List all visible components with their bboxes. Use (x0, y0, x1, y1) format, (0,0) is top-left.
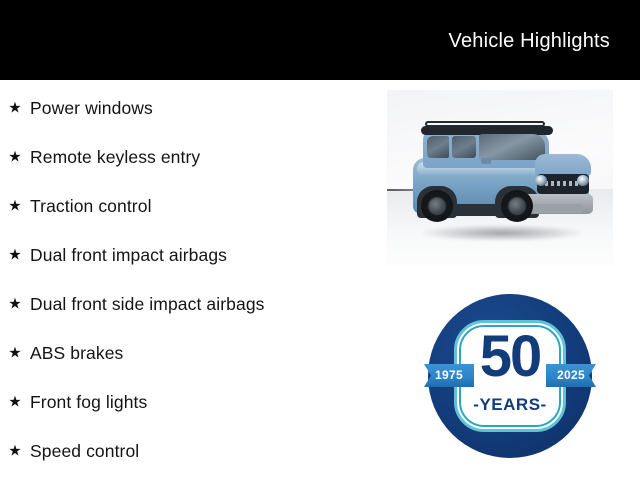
anniversary-badge: 50 -YEARS- 1975 2025 (428, 294, 592, 458)
list-item: ★ Power windows (0, 84, 380, 133)
list-item: ★ Dual front side impact airbags (0, 280, 380, 329)
suv-front-wheel (501, 190, 533, 222)
list-item: ★ Speed control (0, 427, 380, 476)
vehicle-highlights-list: ★ Power windows ★ Remote keyless entry ★… (0, 84, 380, 476)
list-item-label: ABS brakes (30, 343, 123, 364)
star-bullet-icon: ★ (7, 394, 23, 410)
suv-illustration (409, 118, 595, 246)
star-bullet-icon: ★ (7, 100, 23, 116)
star-bullet-icon: ★ (7, 198, 23, 214)
list-item-label: Traction control (30, 196, 152, 217)
star-bullet-icon: ★ (7, 296, 23, 312)
suv-side-mirror (481, 158, 491, 164)
suv-headlight-right (577, 175, 589, 186)
page-title: Vehicle Highlights (449, 29, 610, 53)
list-item-label: Remote keyless entry (30, 147, 200, 168)
list-item-label: Power windows (30, 98, 153, 119)
vehicle-highlights-slide: Vehicle Highlights ★ Power windows ★ Rem… (0, 0, 640, 480)
list-item-label: Dual front impact airbags (30, 245, 227, 266)
suv-hood (535, 154, 591, 176)
star-bullet-icon: ★ (7, 443, 23, 459)
star-bullet-icon: ★ (7, 149, 23, 165)
suv-windshield (479, 134, 545, 160)
list-item-label: Front fog lights (30, 392, 147, 413)
suv-skid-plate (531, 204, 583, 213)
list-item-label: Dual front side impact airbags (30, 294, 265, 315)
badge-years-label: -YEARS- (428, 396, 592, 414)
suv-rear-window (427, 136, 449, 158)
vehicle-photo (387, 90, 613, 266)
suv-side-window (452, 136, 476, 158)
star-bullet-icon: ★ (7, 247, 23, 263)
list-item: ★ Front fog lights (0, 378, 380, 427)
badge-end-year-ribbon: 2025 (546, 364, 596, 387)
suv-rear-wheel (421, 190, 453, 222)
list-item: ★ ABS brakes (0, 329, 380, 378)
header-bar: Vehicle Highlights (0, 0, 640, 80)
star-bullet-icon: ★ (7, 345, 23, 361)
list-item: ★ Dual front impact airbags (0, 231, 380, 280)
list-item: ★ Traction control (0, 182, 380, 231)
list-item: ★ Remote keyless entry (0, 133, 380, 182)
suv-headlight-left (535, 175, 547, 186)
suv-roof-rack (425, 121, 545, 127)
list-item-label: Speed control (30, 441, 139, 462)
badge-start-year-ribbon: 1975 (424, 364, 474, 387)
